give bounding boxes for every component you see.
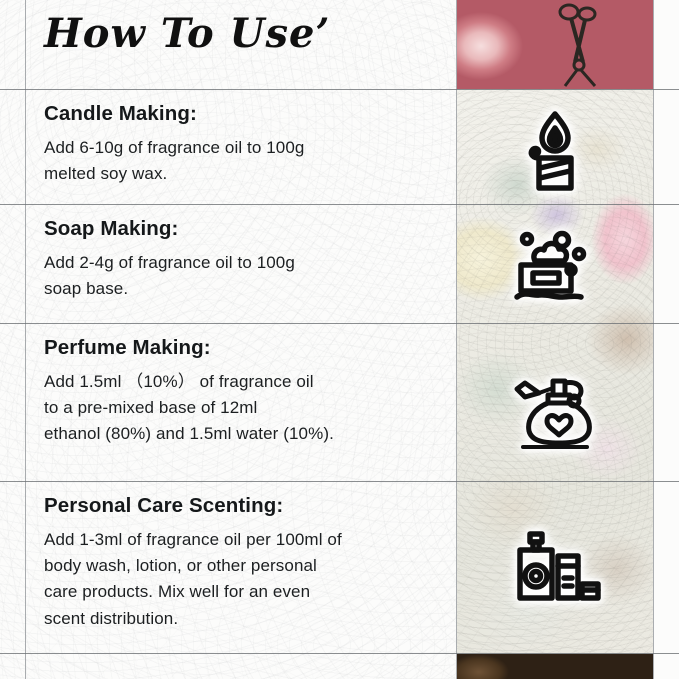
page-title: How To Use’ xyxy=(44,10,330,57)
illustration-column xyxy=(457,0,653,679)
section-body-perfume-making: Add 1.5ml （10%） of fragrance oil to a pr… xyxy=(44,369,444,448)
candle-icon xyxy=(457,108,653,194)
section-title-candle-making: Candle Making: xyxy=(44,103,457,126)
right-margin-strip xyxy=(653,0,679,679)
right-vertical-rule xyxy=(653,0,654,679)
section-perfume-making: Perfume Making: Add 1.5ml （10%） of fragr… xyxy=(26,323,457,481)
section-title-personal-care-scenting: Personal Care Scenting: xyxy=(44,495,457,518)
soap-bar-icon xyxy=(457,227,653,309)
section-candle-making: Candle Making: Add 6-10g of fragrance oi… xyxy=(26,89,457,204)
personal-care-products-icon xyxy=(457,522,653,608)
section-soap-making: Soap Making: Add 2-4g of fragrance oil t… xyxy=(26,204,457,323)
header: How To Use’ xyxy=(26,0,457,89)
left-margin-strip xyxy=(0,0,26,679)
section-title-perfume-making: Perfume Making: xyxy=(44,337,457,360)
section-body-candle-making: Add 6-10g of fragrance oil to 100g melte… xyxy=(44,135,444,188)
roses-and-scissors-photo xyxy=(457,0,653,89)
scissors-illustration xyxy=(553,2,611,88)
how-to-use-infographic: How To Use’ Candle Making: Add 6-10g of … xyxy=(0,0,679,679)
section-body-soap-making: Add 2-4g of fragrance oil to 100g soap b… xyxy=(44,250,444,303)
flowers-and-book-photo xyxy=(457,654,653,679)
perfume-bottle-icon xyxy=(457,365,653,453)
section-title-soap-making: Soap Making: xyxy=(44,218,457,241)
divider-bottom xyxy=(0,653,679,654)
section-body-personal-care-scenting: Add 1-3ml of fragrance oil per 100ml of … xyxy=(44,527,444,632)
section-personal-care-scenting: Personal Care Scenting: Add 1-3ml of fra… xyxy=(26,481,457,653)
